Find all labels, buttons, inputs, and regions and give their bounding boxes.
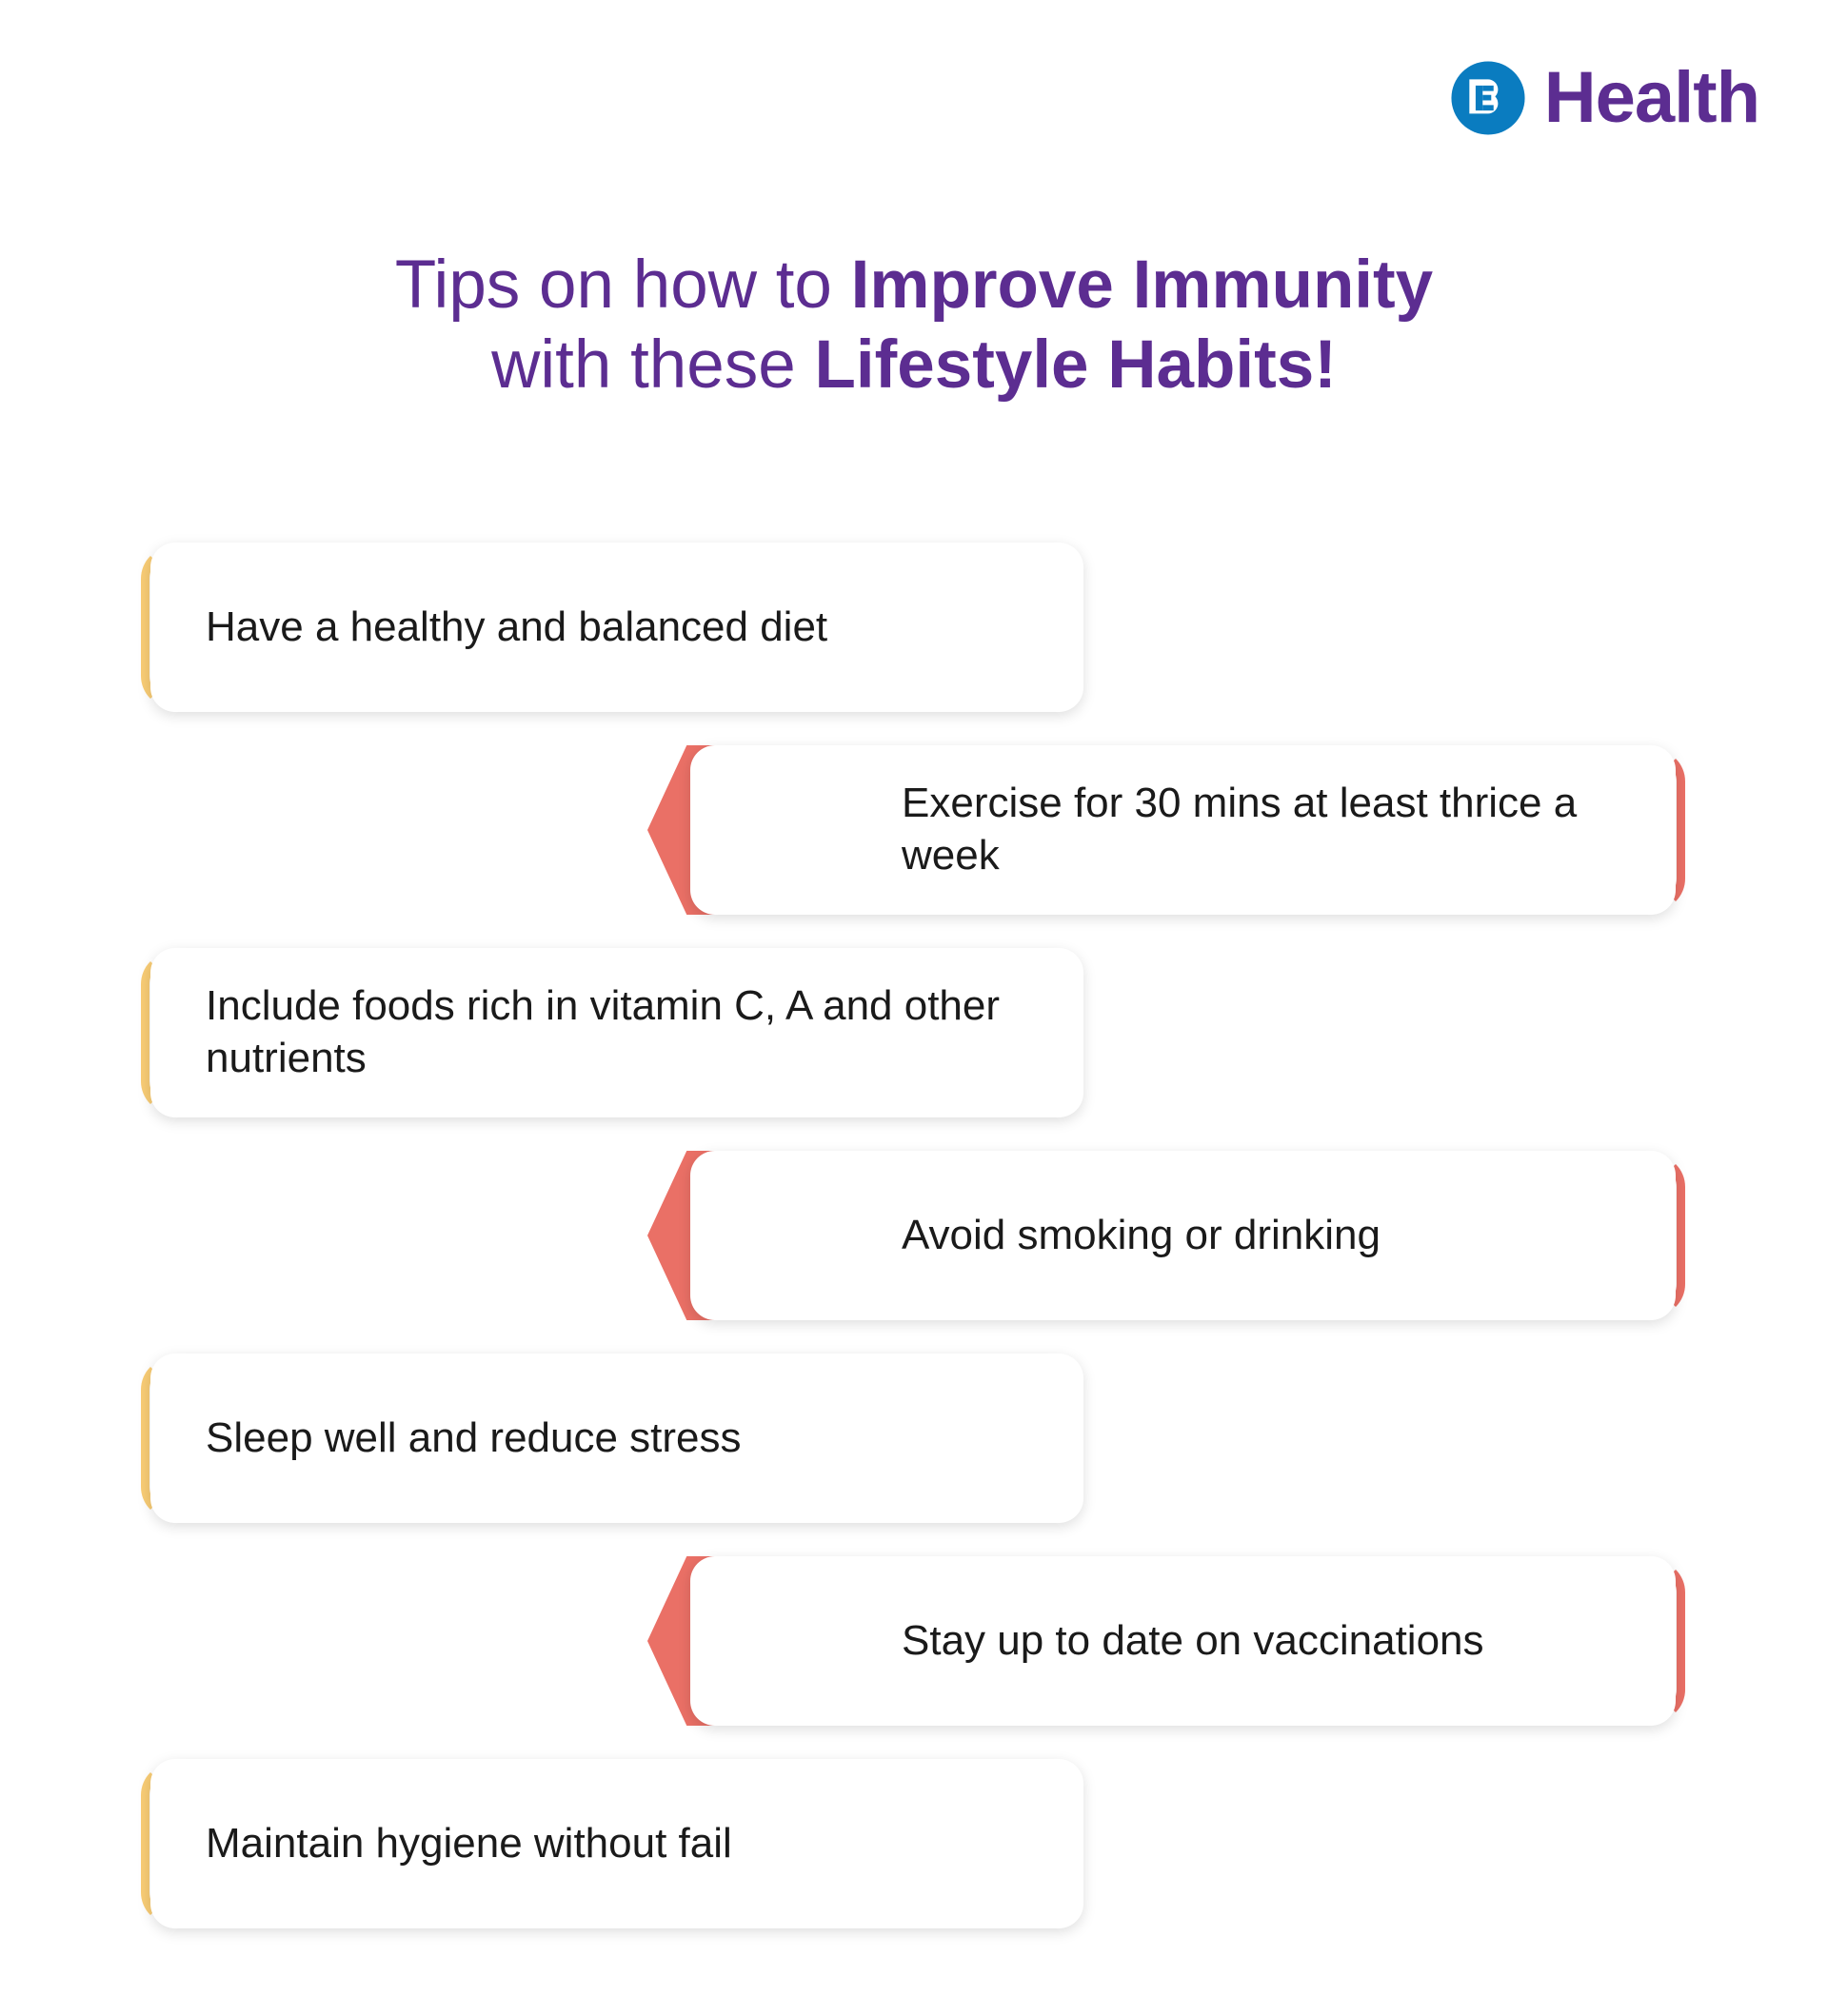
tip-card[interactable]: Exercise for 30 mins at least thrice a w… (690, 745, 1676, 915)
tip-card[interactable]: Maintain hygiene without fail (150, 1759, 1083, 1928)
title-line-1-bold: Improve Immunity (851, 247, 1434, 323)
tip-row-4[interactable]: Avoid smoking or drinking (0, 1151, 1828, 1320)
title-line-1: Tips on how to Improve Immunity (0, 246, 1828, 326)
page-title: Tips on how to Improve Immunity with the… (0, 246, 1828, 405)
tip-card[interactable]: Stay up to date on vaccinations (690, 1556, 1676, 1726)
tip-row-7[interactable]: Maintain hygiene without fail (0, 1759, 1828, 1928)
infographic-page: Health Tips on how to Improve Immunity w… (0, 0, 1828, 2016)
title-line-1-normal: Tips on how to (395, 247, 851, 323)
title-line-2-normal: with these (491, 327, 814, 403)
tip-text: Stay up to date on vaccinations (902, 1615, 1484, 1668)
tip-row-1[interactable]: Have a healthy and balanced diet (0, 543, 1828, 712)
tip-text: Exercise for 30 mins at least thrice a w… (902, 778, 1676, 881)
brand-logo[interactable]: Health (1449, 59, 1759, 137)
tip-card[interactable]: Have a healthy and balanced diet (150, 543, 1083, 712)
tips-list: Have a healthy and balanced diet Exer (0, 543, 1828, 1962)
tip-text: Have a healthy and balanced diet (206, 602, 827, 654)
tip-card[interactable]: Include foods rich in vitamin C, A and o… (150, 948, 1083, 1117)
title-line-2-bold: Lifestyle Habits! (814, 327, 1336, 403)
tip-row-2[interactable]: Exercise for 30 mins at least thrice a w… (0, 745, 1828, 915)
bajaj-b-circle-icon (1449, 59, 1527, 137)
tip-row-6[interactable]: Stay up to date on vaccinations (0, 1556, 1828, 1726)
title-line-2: with these Lifestyle Habits! (0, 326, 1828, 405)
tip-card[interactable]: Avoid smoking or drinking (690, 1151, 1676, 1320)
tip-text: Maintain hygiene without fail (206, 1818, 732, 1870)
tip-text: Avoid smoking or drinking (902, 1210, 1381, 1262)
logo-wordmark: Health (1544, 62, 1759, 134)
tip-row-5[interactable]: Sleep well and reduce stress (0, 1354, 1828, 1523)
tip-text: Sleep well and reduce stress (206, 1413, 742, 1465)
tip-text: Include foods rich in vitamin C, A and o… (206, 980, 1083, 1084)
tip-card[interactable]: Sleep well and reduce stress (150, 1354, 1083, 1523)
tip-row-3[interactable]: Include foods rich in vitamin C, A and o… (0, 948, 1828, 1117)
